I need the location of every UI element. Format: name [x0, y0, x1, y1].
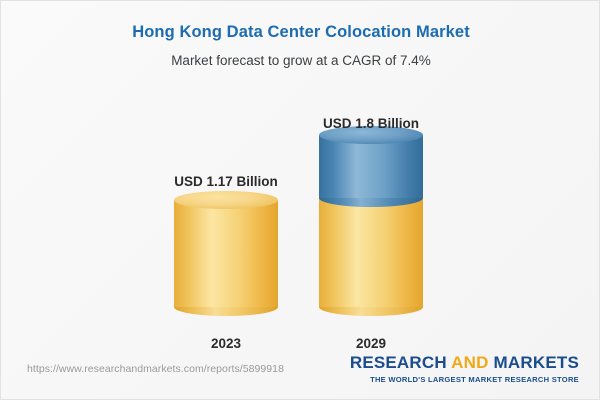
plot-area: USD 1.17 Billion 2023 [1, 81, 600, 341]
cylinder-segment-base [319, 189, 423, 316]
cylinder-bottom [319, 307, 423, 316]
brand-logo[interactable]: RESEARCH AND MARKETS THE WORLD'S LARGEST… [350, 353, 579, 384]
cylinder-bottom [174, 307, 278, 316]
logo-word-markets: MARKETS [494, 353, 579, 372]
cylinder-bottom [319, 198, 423, 207]
cylinder-segment-growth [319, 126, 423, 207]
cylinder-side [174, 200, 278, 307]
cylinder-2029[interactable] [319, 126, 423, 316]
page-title: Hong Kong Data Center Colocation Market [1, 23, 600, 42]
value-label-2023: USD 1.17 Billion [116, 174, 336, 189]
cylinder-side [319, 135, 423, 198]
chart-card: Hong Kong Data Center Colocation Market … [0, 0, 600, 400]
logo-wordmark: RESEARCH AND MARKETS [350, 353, 579, 373]
value-label-2029: USD 1.8 Billion [261, 116, 481, 131]
cylinder-2023[interactable] [174, 191, 278, 316]
cylinder-segment-base [174, 191, 278, 316]
cylinder-side [319, 198, 423, 307]
logo-tagline: THE WORLD'S LARGEST MARKET RESEARCH STOR… [350, 375, 579, 384]
cylinder-top-cap [174, 191, 278, 209]
report-url[interactable]: https://www.researchandmarkets.com/repor… [27, 363, 284, 375]
logo-word-and: AND [451, 353, 488, 372]
logo-word-research: RESEARCH [350, 353, 447, 372]
chart-subtitle: Market forecast to grow at a CAGR of 7.4… [1, 53, 600, 68]
footer: https://www.researchandmarkets.com/repor… [1, 345, 600, 399]
